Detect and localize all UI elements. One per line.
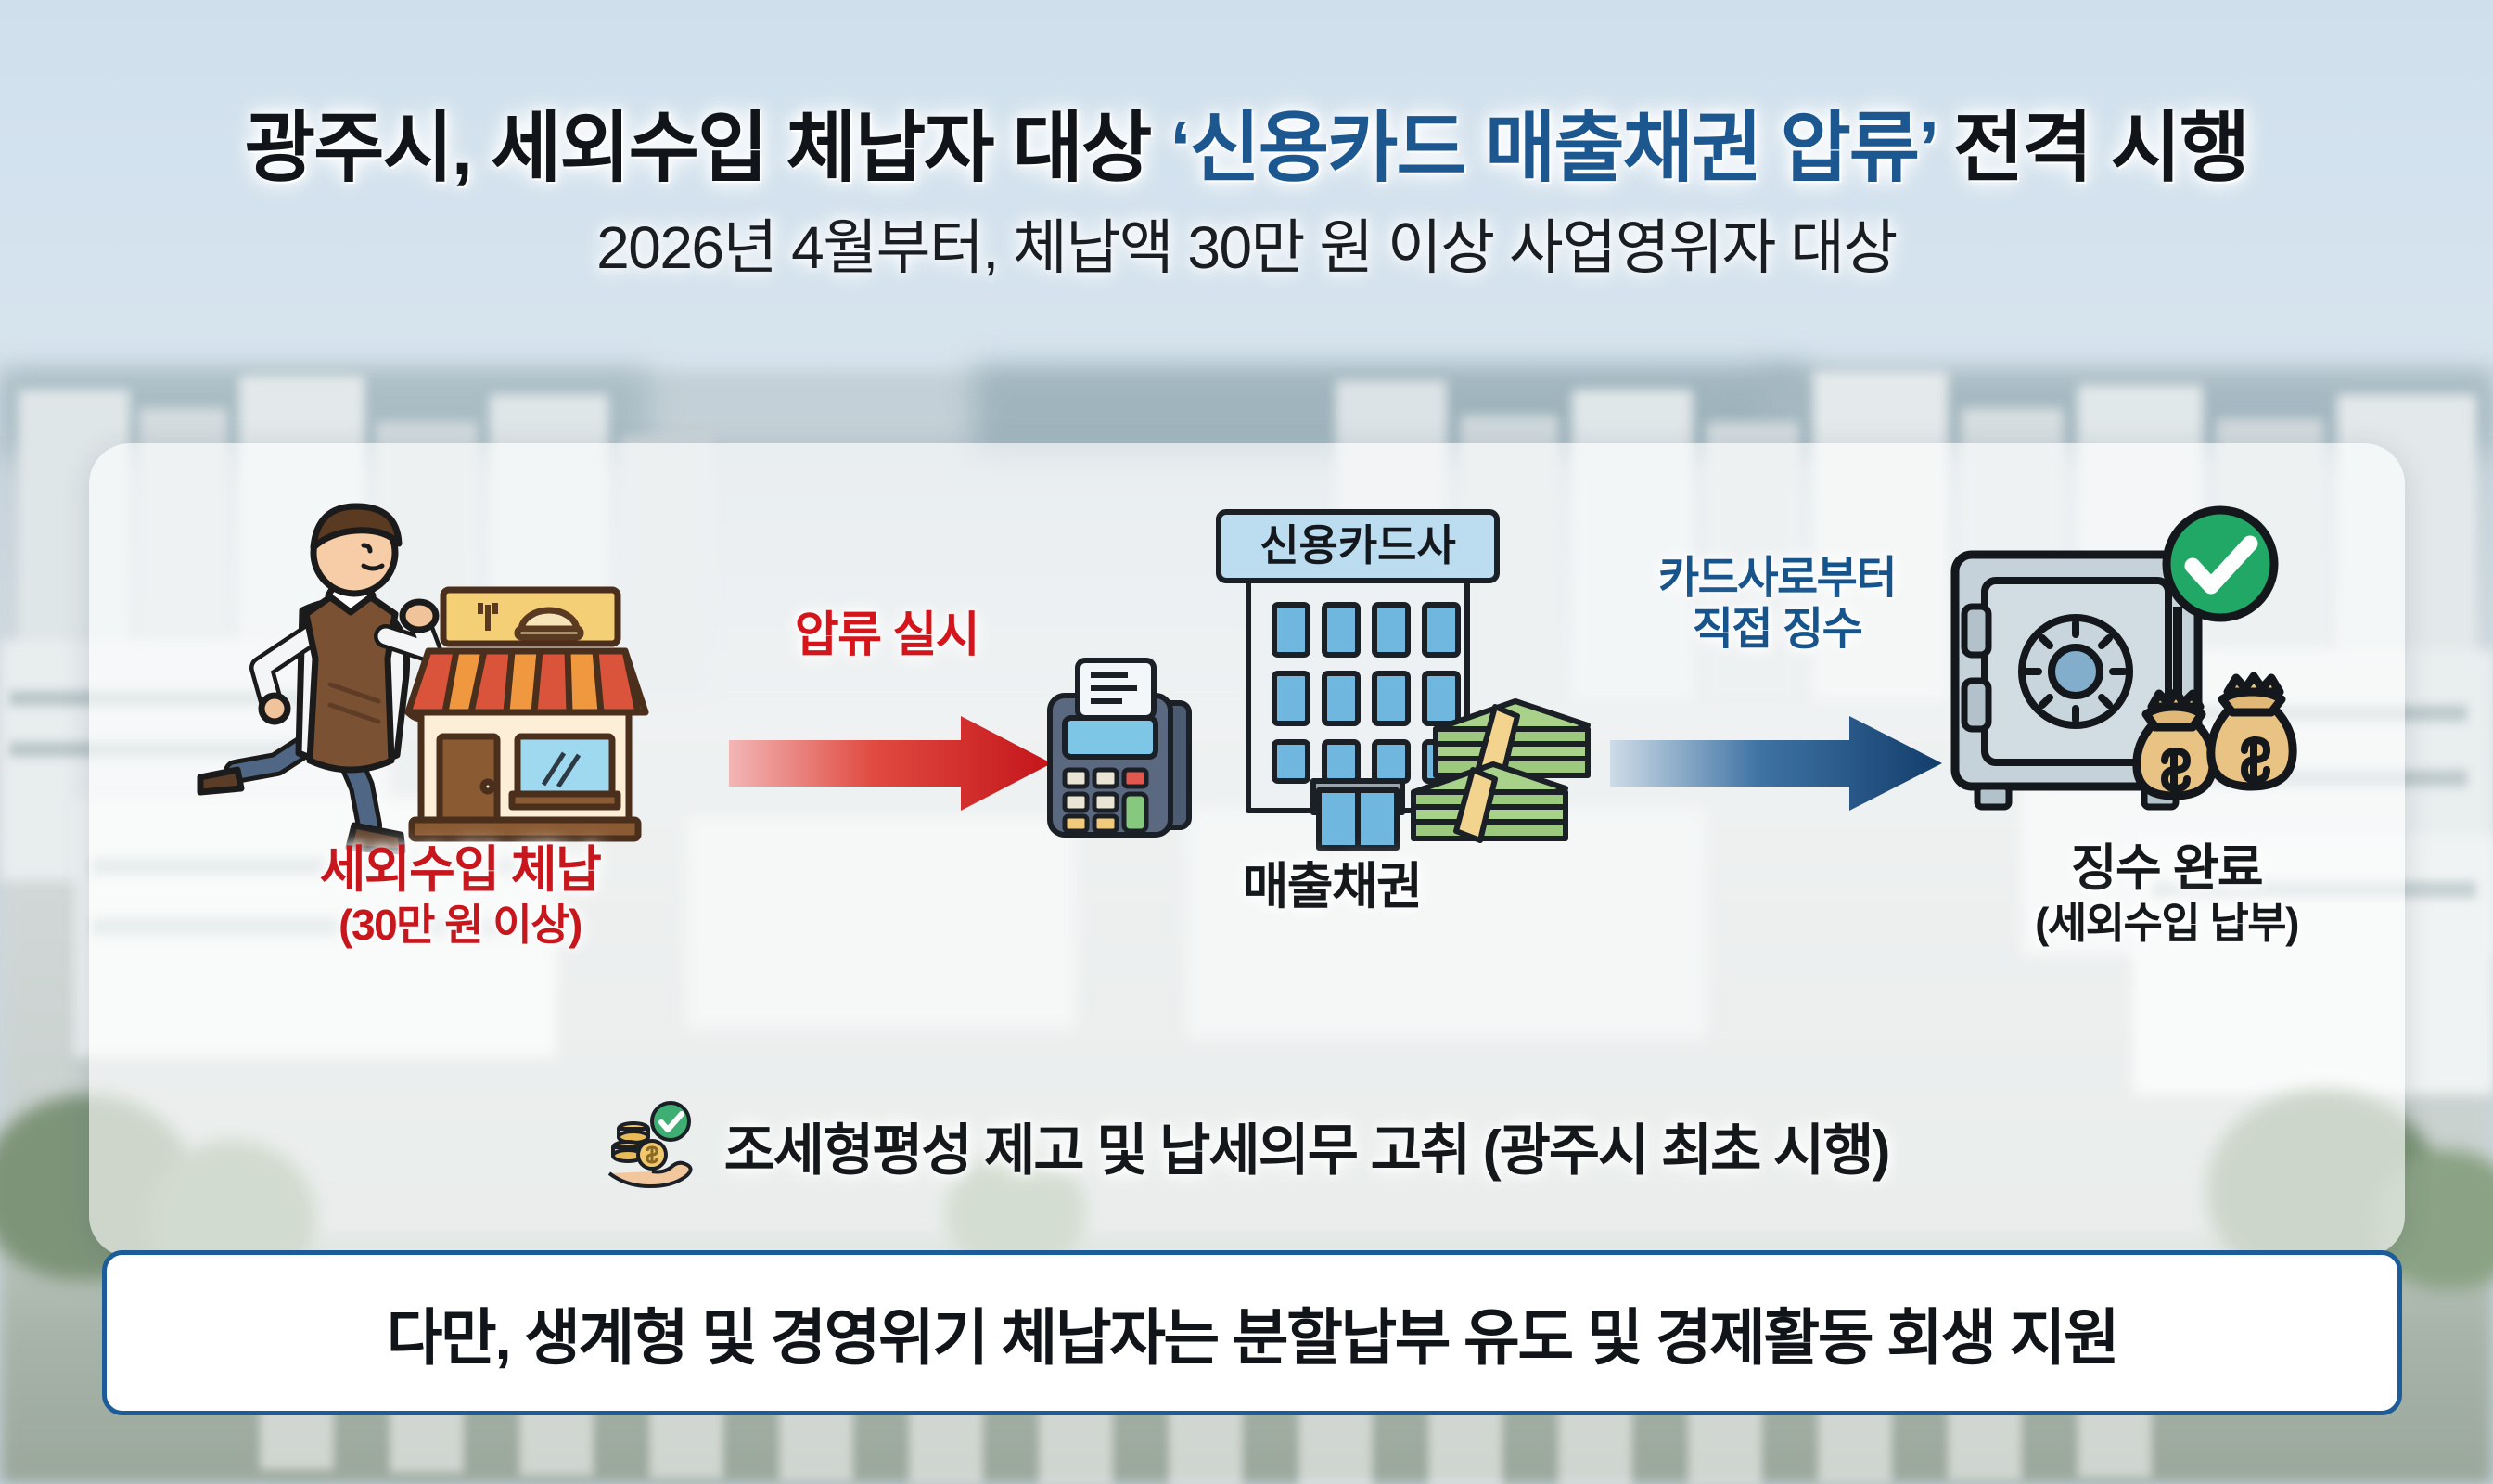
blue-right-arrow-icon — [1610, 712, 1944, 814]
collection-caption-main: 징수 완료 — [2071, 840, 2262, 896]
flow-step-collection-caption: 징수 완료 (세외수입 납부) — [1935, 840, 2398, 948]
flow-step-delinquency-caption: 세외수입 체납 (30만 원 이상) — [173, 842, 748, 950]
safe-vault-moneybags-check-icon — [1935, 497, 2398, 840]
direct-collection-line1: 카드사로부터 — [1658, 554, 1896, 603]
flow-step-receivables-caption: 매출채권 — [1035, 859, 1629, 915]
receivables-caption-main: 매출채권 — [1243, 859, 1422, 915]
arrow-seizure-label: 압류 실시 — [738, 608, 1035, 664]
flow-step-collection-complete: 징수 완료 (세외수입 납부) — [1935, 497, 2398, 948]
direct-collection-line2: 직접 징수 — [1693, 605, 1861, 654]
delinquency-caption-main: 세외수입 체납 — [320, 842, 601, 898]
process-flow: 세외수입 체납 (30만 원 이상) 압류 실시 — [89, 443, 2405, 1093]
benefit-text: 조세형평성 제고 및 납세의무 고취 (광주시 최초 시행) — [724, 1106, 1889, 1186]
title-highlight: ‘신용카드 매출채권 압류’ — [1170, 105, 1936, 191]
collection-caption-sub: (세외수입 납부) — [1935, 900, 2398, 948]
title-part-2: 전격 시행 — [1936, 105, 2248, 191]
benefit-row: 조세형평성 제고 및 납세의무 고취 (광주시 최초 시행) — [89, 1090, 2405, 1201]
red-right-arrow-icon — [729, 712, 1054, 814]
coins-hand-check-icon — [606, 1097, 702, 1194]
card-company-sign-text: 신용카드사 — [1259, 521, 1456, 569]
running-shopowner-storefront-icon — [173, 499, 748, 842]
infographic-canvas: 광주시, 세외수입 체납자 대상 ‘신용카드 매출채권 압류’ 전격 시행 20… — [0, 0, 2493, 1484]
card-terminal-building-cash-icon: 신용카드사 — [1035, 497, 1629, 859]
title-part-1: 광주시, 세외수입 체납자 대상 — [245, 105, 1170, 191]
page-subtitle: 2026년 4월부터, 체납액 30만 원 이상 사업영위자 대상 — [0, 186, 2493, 277]
flow-step-receivables: 신용카드사 — [1035, 497, 1629, 915]
header: 광주시, 세외수입 체납자 대상 ‘신용카드 매출채권 압류’ 전격 시행 20… — [0, 0, 2493, 277]
page-title: 광주시, 세외수입 체납자 대상 ‘신용카드 매출채권 압류’ 전격 시행 — [0, 0, 2493, 186]
bottom-banner: 다만, 생계형 및 경영위기 체납자는 분할납부 유도 및 경제활동 회생 지원 — [102, 1250, 2402, 1415]
arrow-direct-collection-label: 카드사로부터 직접 징수 — [1573, 553, 1981, 655]
flow-step-delinquency: 세외수입 체납 (30만 원 이상) — [173, 499, 748, 950]
delinquency-caption-sub: (30만 원 이상) — [173, 902, 748, 950]
bottom-banner-text: 다만, 생계형 및 경영위기 체납자는 분할납부 유도 및 경제활동 회생 지원 — [387, 1288, 2118, 1377]
